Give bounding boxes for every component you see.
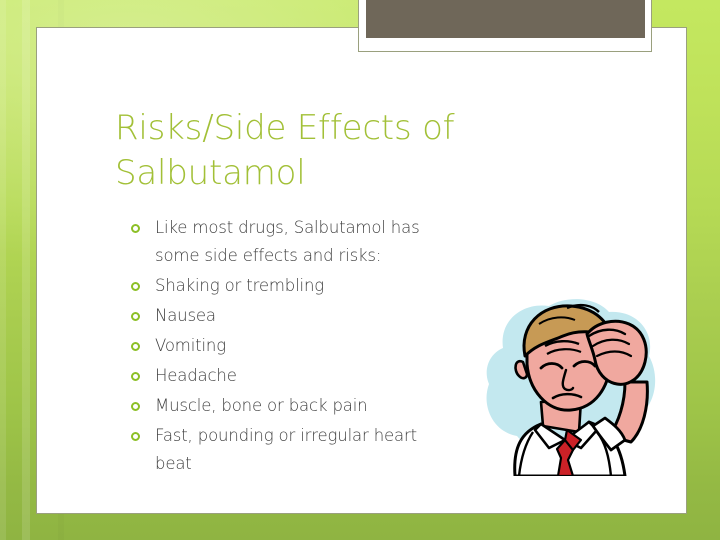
slide-content-panel: Risks/Side Effects of Salbutamol Like mo… xyxy=(36,27,687,514)
bullet-circle-icon xyxy=(131,312,140,321)
list-item: Like most drugs, Salbutamol has some sid… xyxy=(129,214,449,270)
list-item-label: Like most drugs, Salbutamol has some sid… xyxy=(155,218,420,265)
page-title: Risks/Side Effects of Salbutamol xyxy=(115,106,535,196)
list-item-label: Fast, pounding or irregular heart beat xyxy=(155,426,417,473)
header-decoration-bar-fill xyxy=(366,0,645,38)
bullet-circle-icon xyxy=(131,342,140,351)
list-item: Shaking or trembling xyxy=(129,272,449,300)
bullet-circle-icon xyxy=(131,402,140,411)
header-decoration-bar xyxy=(358,0,652,52)
list-item-label: Vomiting xyxy=(155,336,226,355)
side-effects-bullet-list: Like most drugs, Salbutamol has some sid… xyxy=(129,214,449,480)
bullet-circle-icon xyxy=(131,372,140,381)
list-item-label: Headache xyxy=(155,366,237,385)
list-item: Nausea xyxy=(129,302,449,330)
slide: Risks/Side Effects of Salbutamol Like mo… xyxy=(0,0,720,540)
list-item: Muscle, bone or back pain xyxy=(129,392,449,420)
bullet-circle-icon xyxy=(131,224,140,233)
list-item-label: Nausea xyxy=(155,306,216,325)
list-item: Headache xyxy=(129,362,449,390)
bullet-circle-icon xyxy=(131,432,140,441)
list-item-label: Shaking or trembling xyxy=(155,276,324,295)
headache-man-clipart xyxy=(469,290,669,476)
list-item-label: Muscle, bone or back pain xyxy=(155,396,367,415)
list-item: Vomiting xyxy=(129,332,449,360)
list-item: Fast, pounding or irregular heart beat xyxy=(129,422,449,478)
bullet-circle-icon xyxy=(131,282,140,291)
